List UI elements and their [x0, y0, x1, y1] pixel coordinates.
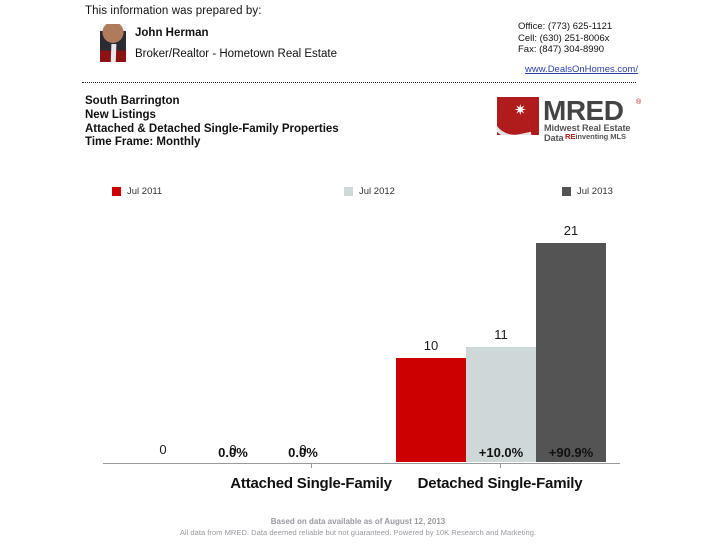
mred-logo: ✷ MRED ® Midwest Real Estate Data REinve… [497, 97, 645, 137]
bar-value-label: 0 [198, 442, 268, 457]
agent-photo [100, 24, 126, 62]
registered-mark-icon: ® [636, 99, 641, 106]
bar-jul-2012-detached [466, 347, 536, 462]
footer-data-date: Based on data available as of August 12,… [0, 516, 716, 527]
bar-percent-change-label: 0.0% [268, 445, 338, 460]
legend-item-jul-2013[interactable]: Jul 2013 [562, 186, 613, 197]
mred-wordmark: MRED [543, 97, 623, 125]
star-icon: ✷ [514, 105, 526, 117]
axis-tick-attached [311, 464, 312, 468]
legend-swatch-jul-2012 [344, 187, 353, 196]
legend-label-jul-2011: Jul 2011 [127, 186, 162, 197]
contact-office: Office: (773) 625-1121 [518, 21, 612, 33]
axis-tick-detached [500, 464, 501, 468]
legend-item-jul-2012[interactable]: Jul 2012 [344, 186, 395, 197]
title-line-timeframe: Time Frame: Monthly [85, 136, 339, 150]
footer: Based on data available as of August 12,… [0, 516, 716, 538]
agent-info: John Herman Broker/Realtor - Hometown Re… [100, 24, 337, 63]
agent-title: Broker/Realtor - Hometown Real Estate [135, 46, 337, 63]
bar-value-label: 21 [536, 223, 606, 238]
bar-value-label: 10 [396, 338, 466, 353]
bar-jul-2011-detached [396, 358, 466, 462]
header-divider [82, 82, 636, 83]
legend-swatch-jul-2011 [112, 187, 121, 196]
title-line-property-type: Attached & Detached Single-Family Proper… [85, 123, 339, 137]
bar-percent-change-label: +90.9% [536, 445, 606, 460]
legend-label-jul-2013: Jul 2013 [577, 186, 613, 197]
mred-subtagline-rest: inventing MLS [575, 132, 626, 141]
website-link[interactable]: www.DealsOnHomes.com/ [525, 64, 638, 75]
bar-jul-2013-detached [536, 243, 606, 462]
bar-percent-change-label: 0.0% [198, 445, 268, 460]
x-axis-category-label: Attached Single-Family [171, 475, 451, 492]
agent-name: John Herman [135, 25, 337, 42]
x-axis-category-label: Detached Single-Family [360, 475, 640, 492]
legend-label-jul-2012: Jul 2012 [359, 186, 395, 197]
page-title: South Barrington New Listings Attached &… [85, 95, 339, 150]
contact-cell: Cell: (630) 251-8006x [518, 33, 612, 45]
legend-swatch-jul-2013 [562, 187, 571, 196]
footer-disclaimer: All data from MRED. Data deemed reliable… [0, 527, 716, 538]
bar-percent-change-label: +10.0% [466, 445, 536, 460]
contact-fax: Fax: (847) 304-8990 [518, 44, 612, 56]
contact-block: Office: (773) 625-1121 Cell: (630) 251-8… [518, 21, 612, 56]
mred-subtagline: REinventing MLS [565, 132, 626, 141]
x-axis-line [103, 463, 620, 464]
bar-value-label: 11 [466, 327, 536, 342]
mred-mark-icon: ✷ [497, 97, 539, 135]
legend-item-jul-2011[interactable]: Jul 2011 [112, 186, 162, 197]
title-line-metric: New Listings [85, 109, 339, 123]
chart-legend: Jul 2011 Jul 2012 Jul 2013 [0, 186, 716, 202]
title-line-region: South Barrington [85, 95, 339, 109]
bar-value-label: 0 [128, 442, 198, 457]
mred-subtagline-accent: RE [565, 132, 575, 141]
bar-value-label: 0 [268, 442, 338, 457]
prepared-by-label: This information was prepared by: [85, 5, 262, 17]
